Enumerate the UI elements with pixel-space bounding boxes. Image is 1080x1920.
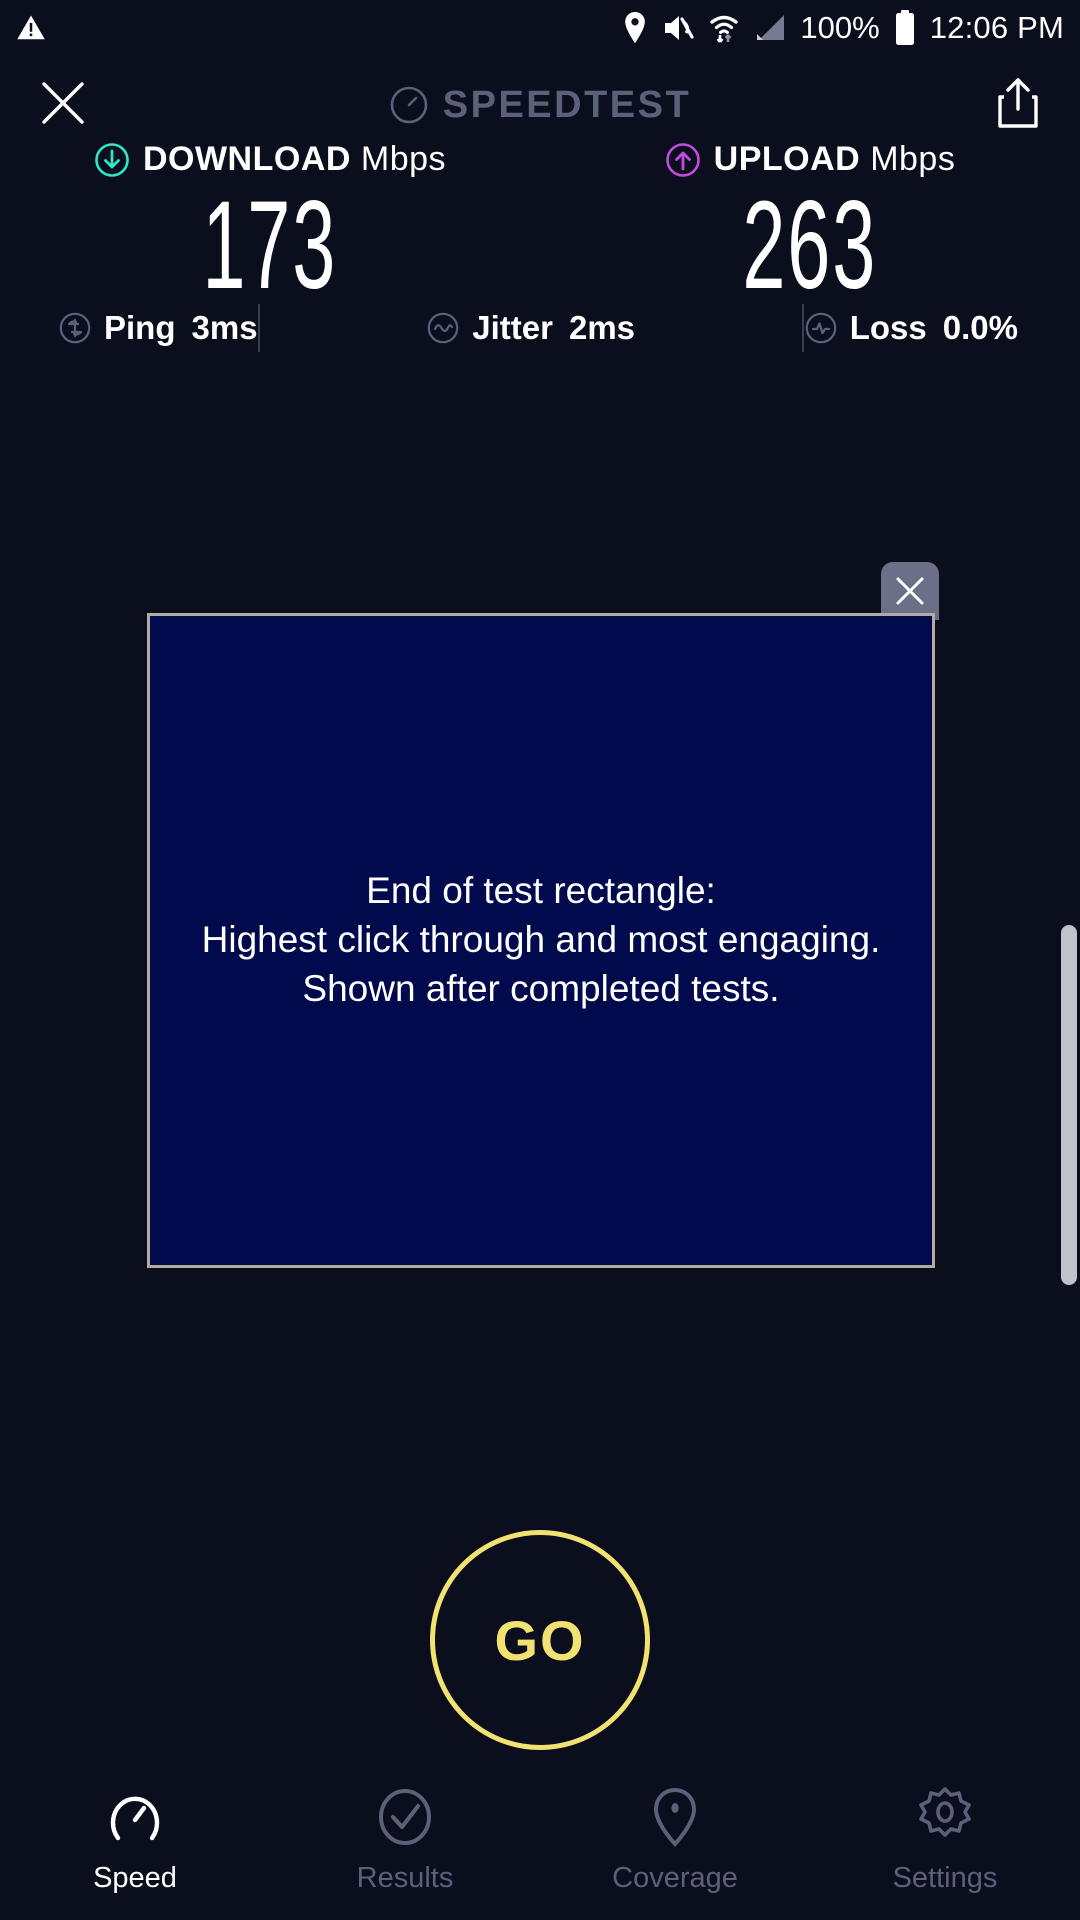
nav-item-settings[interactable]: Settings (810, 1786, 1080, 1895)
warning-triangle-icon (16, 13, 46, 43)
ad-close-button[interactable] (881, 562, 939, 620)
clock-label: 12:06 PM (930, 10, 1064, 46)
battery-percent-label: 100% (800, 10, 879, 46)
close-x-icon (40, 80, 86, 126)
volume-mute-icon (662, 13, 694, 43)
ping-icon (58, 311, 92, 345)
status-bar-left (16, 13, 46, 43)
download-header: DOWNLOAD Mbps (94, 140, 446, 179)
battery-full-icon (894, 10, 916, 46)
speed-gauge-icon (104, 1786, 166, 1848)
download-result: DOWNLOAD Mbps 173 (0, 140, 540, 308)
network-metrics-row: Ping 3ms Jitter 2ms Loss 0.0 (0, 298, 1080, 358)
metric-ping-label: Ping (104, 309, 176, 347)
speedtest-app-screen: 100% 12:06 PM SPEEDTEST (0, 0, 1080, 1920)
nav-label-settings: Settings (893, 1862, 998, 1895)
metric-jitter-label: Jitter (472, 309, 553, 347)
metric-loss-value: 0.0% (943, 309, 1018, 347)
jitter-icon (426, 311, 460, 345)
nav-item-speed[interactable]: Speed (0, 1786, 270, 1895)
share-button[interactable] (996, 77, 1040, 134)
cellular-signal-icon (754, 13, 786, 43)
vertical-scrollbar-thumb[interactable] (1061, 925, 1077, 1285)
go-button[interactable]: GO (430, 1530, 650, 1750)
app-header: SPEEDTEST (0, 60, 1080, 150)
upload-result: UPLOAD Mbps 263 (540, 140, 1080, 308)
metric-separator-1 (258, 304, 260, 352)
metric-jitter-value: 2ms (569, 309, 635, 347)
speed-results-panel: DOWNLOAD Mbps 173 UPLOAD Mbps 263 (0, 140, 1080, 308)
go-button-label: GO (494, 1608, 585, 1673)
close-button[interactable] (40, 80, 86, 131)
nav-label-coverage: Coverage (612, 1862, 738, 1895)
metric-jitter: Jitter 2ms (426, 309, 635, 347)
upload-header: UPLOAD Mbps (665, 140, 956, 179)
nav-label-results: Results (357, 1862, 454, 1895)
download-label: DOWNLOAD Mbps (143, 140, 446, 179)
ad-text: End of test rectangle: Highest click thr… (182, 867, 901, 1013)
map-pin-icon (644, 1786, 706, 1848)
metric-ping-value: 3ms (192, 309, 258, 347)
location-pin-icon (622, 12, 648, 44)
advertisement-banner[interactable]: End of test rectangle: Highest click thr… (147, 613, 935, 1268)
metric-loss-label: Loss (850, 309, 927, 347)
nav-item-results[interactable]: Results (270, 1786, 540, 1895)
download-arrow-circle-icon (94, 142, 130, 178)
upload-value: 263 (743, 183, 878, 308)
share-upload-icon (996, 77, 1040, 129)
bottom-navigation-bar: Speed Results Coverage (0, 1760, 1080, 1920)
nav-label-speed: Speed (93, 1862, 177, 1895)
wifi-transfer-icon (708, 12, 740, 44)
page-title: SPEEDTEST (443, 84, 691, 127)
metric-ping: Ping 3ms (58, 309, 258, 347)
metric-loss: Loss 0.0% (804, 309, 1018, 347)
loss-icon (804, 311, 838, 345)
upload-arrow-circle-icon (665, 142, 701, 178)
check-circle-icon (374, 1786, 436, 1848)
status-bar: 100% 12:06 PM (0, 0, 1080, 56)
gear-icon (914, 1786, 976, 1848)
ad-close-x-icon (893, 574, 927, 608)
speedtest-gauge-icon (389, 85, 429, 125)
download-value: 173 (203, 183, 338, 308)
app-title-group: SPEEDTEST (0, 84, 1080, 127)
upload-label: UPLOAD Mbps (714, 140, 956, 179)
status-bar-right: 100% 12:06 PM (622, 10, 1064, 46)
nav-item-coverage[interactable]: Coverage (540, 1786, 810, 1895)
